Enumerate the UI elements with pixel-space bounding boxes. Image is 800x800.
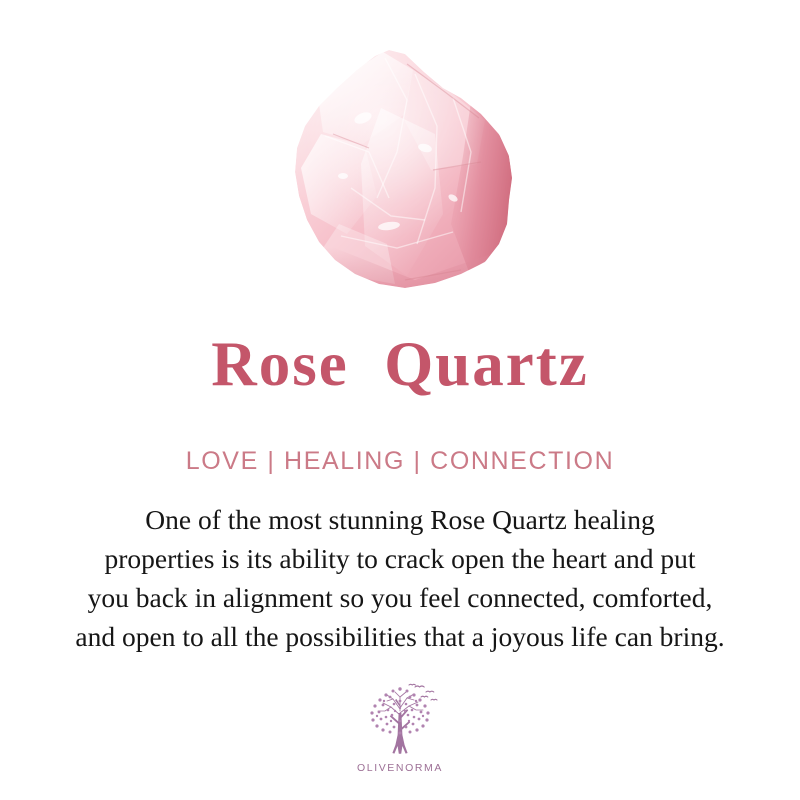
rose-quartz-info-card: Rose Quartz LOVE | HEALING | CONNECTION … bbox=[0, 0, 800, 800]
tree-birds bbox=[409, 684, 437, 700]
description-line: properties is its ability to crack open … bbox=[20, 539, 780, 578]
description-line: One of the most stunning Rose Quartz hea… bbox=[20, 500, 780, 539]
crystal-body bbox=[285, 48, 517, 293]
rose-quartz-crystal-image bbox=[285, 48, 517, 293]
crystal-image-container bbox=[0, 0, 800, 320]
description-text: One of the most stunning Rose Quartz hea… bbox=[20, 500, 780, 656]
brand-logo: OLIVENORMA bbox=[0, 683, 800, 774]
description-line: you back in alignment so you feel connec… bbox=[20, 578, 780, 617]
keyword-subtitle: LOVE | HEALING | CONNECTION bbox=[0, 446, 800, 476]
page-title: Rose Quartz bbox=[0, 333, 800, 396]
brand-wordmark: OLIVENORMA bbox=[0, 762, 800, 774]
tree-of-life-icon bbox=[357, 683, 443, 759]
description-line: and open to all the possibilities that a… bbox=[20, 617, 780, 656]
